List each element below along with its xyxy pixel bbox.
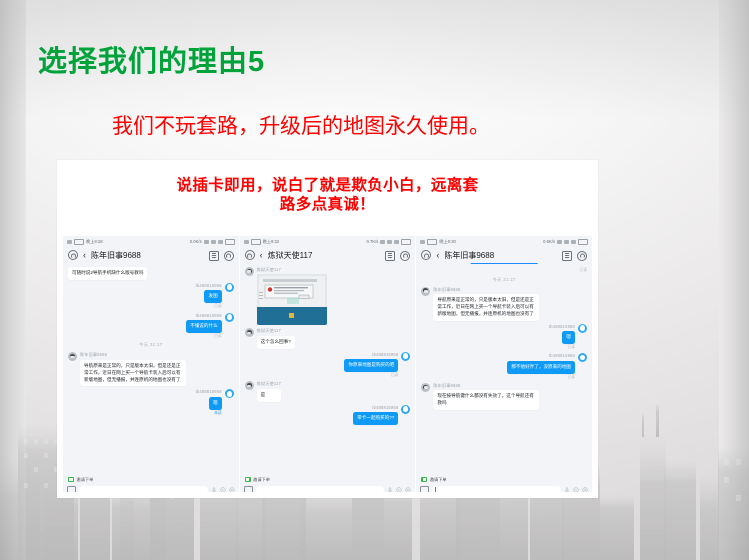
chat-title: 陈年旧事9688 [444,250,494,261]
signal-icon [557,240,562,244]
message-row: 陈年旧事9688现在按导航键什么都没有失效了，这个导航还有救吗 [421,383,587,410]
back-icon[interactable]: ‹ [83,251,86,260]
emoji-icon[interactable] [573,487,579,493]
message-stack: 炼狱天使117 [257,267,327,325]
avatar[interactable] [578,353,587,362]
sender-name: tb488815958 [196,389,222,395]
menu-icon[interactable] [209,251,219,261]
message-stack: 陈年旧事9688导航原来是正常的，只是版本太旧，但是还是正常工作，近日在网上买一… [433,287,539,321]
status-time: 晚上9:32 [263,239,280,245]
back-icon[interactable]: ‹ [436,251,439,260]
battery-icon [74,239,84,245]
chat-header: ‹ 陈年旧事9688 [63,247,239,264]
mic-icon[interactable] [211,487,217,493]
chat-header: ‹ 炼狱天使117 [240,247,416,264]
page-title: 选择我们的理由5 [38,38,265,80]
status-bar: 晚上9:30 0.6K/s [416,236,592,247]
chat-header-right [385,251,410,261]
chat-header-right [209,251,234,261]
battery-icon [251,239,261,245]
wifi-icon [67,240,72,244]
menu-icon[interactable] [385,251,395,261]
chat-message-list[interactable]: 已读今天 21:27陈年旧事9688导航原来是正常的，只是版本太旧，但是还是正常… [416,264,592,475]
status-bar-right: 0.6K/s [543,239,588,245]
sender-name: 陈年旧事9688 [80,352,186,358]
read-receipt: 已读 [214,334,222,339]
invite-order-bar[interactable]: 邀请下单 [240,475,416,484]
invite-order-icon [421,477,427,482]
contact-icon[interactable] [400,251,410,261]
add-attachment-icon[interactable] [229,487,235,493]
signal-icon [387,240,392,244]
contact-icon[interactable] [577,251,587,261]
chat-panel-2: 晚上9:32 0.7K/s ‹ 炼狱天使117 炼狱天使117 [240,236,416,492]
chat-panel-3: 晚上9:30 0.6K/s ‹ 陈年旧事9688 已读今天 21:27陈年旧事9… [416,236,592,492]
message-row: 炼狱天使117这个怎么回事? [245,328,411,348]
message-bubble[interactable]: 带卡一起购买的?? [353,412,398,425]
screenshot-card: 说插卡即用，说白了就是欺负小白，远离套 路多点真诚！ 晚上9:28 0.0K/s… [57,160,598,498]
signal-icon [380,240,385,244]
message-stack: tb488815958不懂说的什么已读 [186,313,222,340]
avatar[interactable] [421,383,430,392]
invite-order-label: 邀请下单 [77,477,94,483]
avatar[interactable] [225,313,234,322]
message-stack: tb488815958发图已读 [196,283,222,310]
mic-icon[interactable] [564,487,570,493]
message-bubble[interactable]: 现在按导航键什么都没有失效了，这个导航还有救吗 [433,390,539,410]
battery-icon [427,239,437,245]
status-time: 晚上9:28 [86,239,103,245]
sender-name: tb488815958 [372,405,398,411]
signal-icon [211,240,216,244]
page-subtitle: 我们不玩套路，升级后的地图永久使用。 [112,110,490,140]
add-attachment-icon[interactable] [582,487,588,493]
battery-icon [225,239,235,245]
avatar[interactable] [68,352,77,361]
message-row: 炼狱天使117是 [245,381,411,401]
invite-order-icon [245,477,251,482]
slide-canvas: 选择我们的理由5 我们不玩套路，升级后的地图永久使用。 说插卡即用，说白了就是欺… [0,0,749,560]
date-divider: 今天 21:27 [68,342,234,348]
chat-header-right [562,251,587,261]
sender-name: tb488815958 [196,283,222,289]
message-bubble[interactable]: 是 [257,389,281,402]
sender-name: 炼狱天使117 [257,267,327,273]
emoji-icon[interactable] [396,487,402,493]
sender-name: 陈年旧事9688 [433,287,539,293]
menu-icon[interactable] [562,251,572,261]
network-speed: 0.7K/s [366,239,378,245]
invite-order-bar[interactable]: 邀请下单 [63,475,239,484]
date-divider: 今天 21:27 [421,277,587,283]
read-receipt: 已读 [567,345,575,350]
wifi-icon [244,240,249,244]
status-time: 晚上9:30 [439,239,456,245]
card-headline-line-1: 说插卡即用，说白了就是欺负小白，远离套 [176,177,478,194]
sender-name: tb488815958 [549,353,575,359]
profile-icon[interactable] [245,250,255,260]
chat-message-list[interactable]: 炼狱天使117 炼狱天使117这个怎么回事?tb488815958你原来地图是购… [240,264,416,475]
avatar[interactable] [245,267,254,276]
message-stack: tb488815958带卡一起购买的?? [353,405,398,425]
message-input-bar [416,484,592,492]
message-bubble[interactable]: 那不他好弄了，没原来的地图 [507,361,575,374]
message-row: tb488815958那不他好弄了，没原来的地图已读 [421,353,587,380]
read-receipt: 已读 [391,373,399,378]
contact-icon[interactable] [224,251,234,261]
message-stack: tb488815958嗯已读 [549,324,575,351]
invite-order-icon [68,477,74,482]
message-row: 炼狱天使117 [245,267,411,325]
sender-name: 炼狱天使117 [257,328,295,334]
chat-title: 炼狱天使117 [268,250,313,261]
status-bar: 晚上9:32 0.7K/s [240,236,416,247]
message-stack: tb488815958你原来地图是购买的吧已读 [344,352,398,379]
add-attachment-icon[interactable] [405,487,411,493]
chat-title: 陈年旧事9688 [91,250,141,261]
message-stack: tb488815958嗯未读 [196,389,222,416]
message-input[interactable] [79,486,208,492]
message-row: tb488815958带卡一起购买的?? [245,405,411,425]
profile-icon[interactable] [421,250,431,260]
message-stack: 陈年旧事9688现在按导航键什么都没有失效了，这个导航还有救吗 [433,383,539,410]
message-bubble[interactable]: 你原来地图是购买的吧 [344,359,398,372]
signal-icon [564,240,569,244]
profile-icon[interactable] [68,250,78,260]
network-speed: 0.6K/s [543,239,555,245]
message-input[interactable] [256,486,385,492]
invite-order-label: 邀请下单 [253,477,270,483]
message-stack: tb488815958那不他好弄了，没原来的地图已读 [507,353,575,380]
avatar[interactable] [245,328,254,337]
message-stack: 炼狱天使117这个怎么回事? [257,328,295,348]
sender-name: tb488815958 [196,313,222,319]
message-row: tb488815958发图已读 [68,283,234,310]
message-row: tb488815958嗯未读 [68,389,234,416]
chat-header-left: ‹ 炼狱天使117 [245,250,313,261]
avatar[interactable] [245,381,254,390]
read-receipt: 已读 [214,304,222,309]
message-row: 陈年旧事9688导航原来是正常的，只是版本太旧，但是还是正常工作，近日在网上买一… [68,352,234,386]
message-row: 陈年旧事9688导航原来是正常的，只是版本太旧，但是还是正常工作，近日在网上买一… [421,287,587,321]
message-row: 可随时说2导航手机缺什么版号教吗 [68,267,234,280]
avatar[interactable] [225,283,234,292]
sender-name: tb488815958 [549,324,575,330]
wifi-icon [394,240,399,244]
message-row: tb488815958不懂说的什么已读 [68,313,234,340]
card-bottom-fade [57,492,598,498]
text-caret [435,487,436,492]
keyboard-toggle-icon[interactable] [420,486,429,493]
message-bubble[interactable]: 导航原来是正常的，只是版本太旧，但是还是正常工作，近日在网上买一个导航卡装入后可… [80,360,186,387]
card-headline: 说插卡即用，说白了就是欺负小白，远离套 路多点真诚！ [57,176,598,215]
avatar[interactable] [421,287,430,296]
message-bubble[interactable]: 可随时说2导航手机缺什么版号教吗 [68,267,147,280]
status-bar-right: 0.0K/s [190,239,235,245]
back-icon[interactable]: ‹ [260,251,263,260]
status-bar: 晚上9:28 0.0K/s [63,236,239,247]
sender-name: tb488815958 [372,352,398,358]
message-input-bar [240,484,416,492]
status-bar-left: 晚上9:28 [67,239,103,245]
message-input-bar [63,484,239,492]
message-input[interactable] [432,486,561,492]
message-bubble[interactable]: 这个怎么回事? [257,336,295,349]
keyboard-toggle-icon[interactable] [244,486,253,493]
message-bubble[interactable]: 不懂说的什么 [186,320,222,333]
avatar[interactable] [225,389,234,398]
read-receipt: 已读 [579,268,587,273]
chat-screenshots-strip: 晚上9:28 0.0K/s ‹ 陈年旧事9688 可随时说2导航手机缺什么版号教… [63,236,592,492]
message-stack: 陈年旧事9688导航原来是正常的，只是版本太旧，但是还是正常工作，近日在网上买一… [80,352,186,386]
message-bubble[interactable]: 嗯 [209,397,222,410]
message-stack: 可随时说2导航手机缺什么版号教吗 [68,267,147,280]
chat-header-left: ‹ 陈年旧事9688 [421,250,494,261]
sender-name: 炼狱天使117 [257,381,281,387]
battery-icon [401,239,411,245]
chat-panel-1: 晚上9:28 0.0K/s ‹ 陈年旧事9688 可随时说2导航手机缺什么版号教… [63,236,239,492]
status-bar-right: 0.7K/s [366,239,411,245]
status-bar-left: 晚上9:30 [420,239,456,245]
read-receipt: 未读 [214,411,222,416]
avatar[interactable] [578,324,587,333]
message-bubble[interactable]: 发图 [204,290,221,303]
chat-header-left: ‹ 陈年旧事9688 [68,250,141,261]
message-bubble[interactable]: 嗯 [562,331,575,344]
status-bar-left: 晚上9:32 [244,239,280,245]
message-row: tb488815958嗯已读 [421,324,587,351]
chat-message-list[interactable]: 可随时说2导航手机缺什么版号教吗tb488815958发图已读tb4888159… [63,264,239,475]
chat-header: ‹ 陈年旧事9688 [416,247,592,264]
message-bubble[interactable]: 导航原来是正常的，只是版本太旧，但是还是正常工作，近日在网上买一个导航卡装入后可… [433,294,539,321]
avatar[interactable] [401,405,410,414]
emoji-icon[interactable] [220,487,226,493]
wifi-icon [218,240,223,244]
message-photo[interactable] [257,274,327,325]
keyboard-toggle-icon[interactable] [67,486,76,493]
invite-order-bar[interactable]: 邀请下单 [416,475,592,484]
card-headline-line-2: 路多点真诚！ [57,195,598,214]
network-speed: 0.0K/s [190,239,202,245]
signal-icon [204,240,209,244]
message-stack: 炼狱天使117是 [257,381,281,401]
wifi-icon [420,240,425,244]
battery-icon [578,239,588,245]
message-row: tb488815958你原来地图是购买的吧已读 [245,352,411,379]
invite-order-label: 邀请下单 [430,477,447,483]
avatar[interactable] [401,352,410,361]
sender-name: 陈年旧事9688 [433,383,539,389]
message-row: 已读 [421,267,587,274]
mic-icon[interactable] [387,487,393,493]
read-receipt: 已读 [567,375,575,380]
wifi-icon [571,240,576,244]
